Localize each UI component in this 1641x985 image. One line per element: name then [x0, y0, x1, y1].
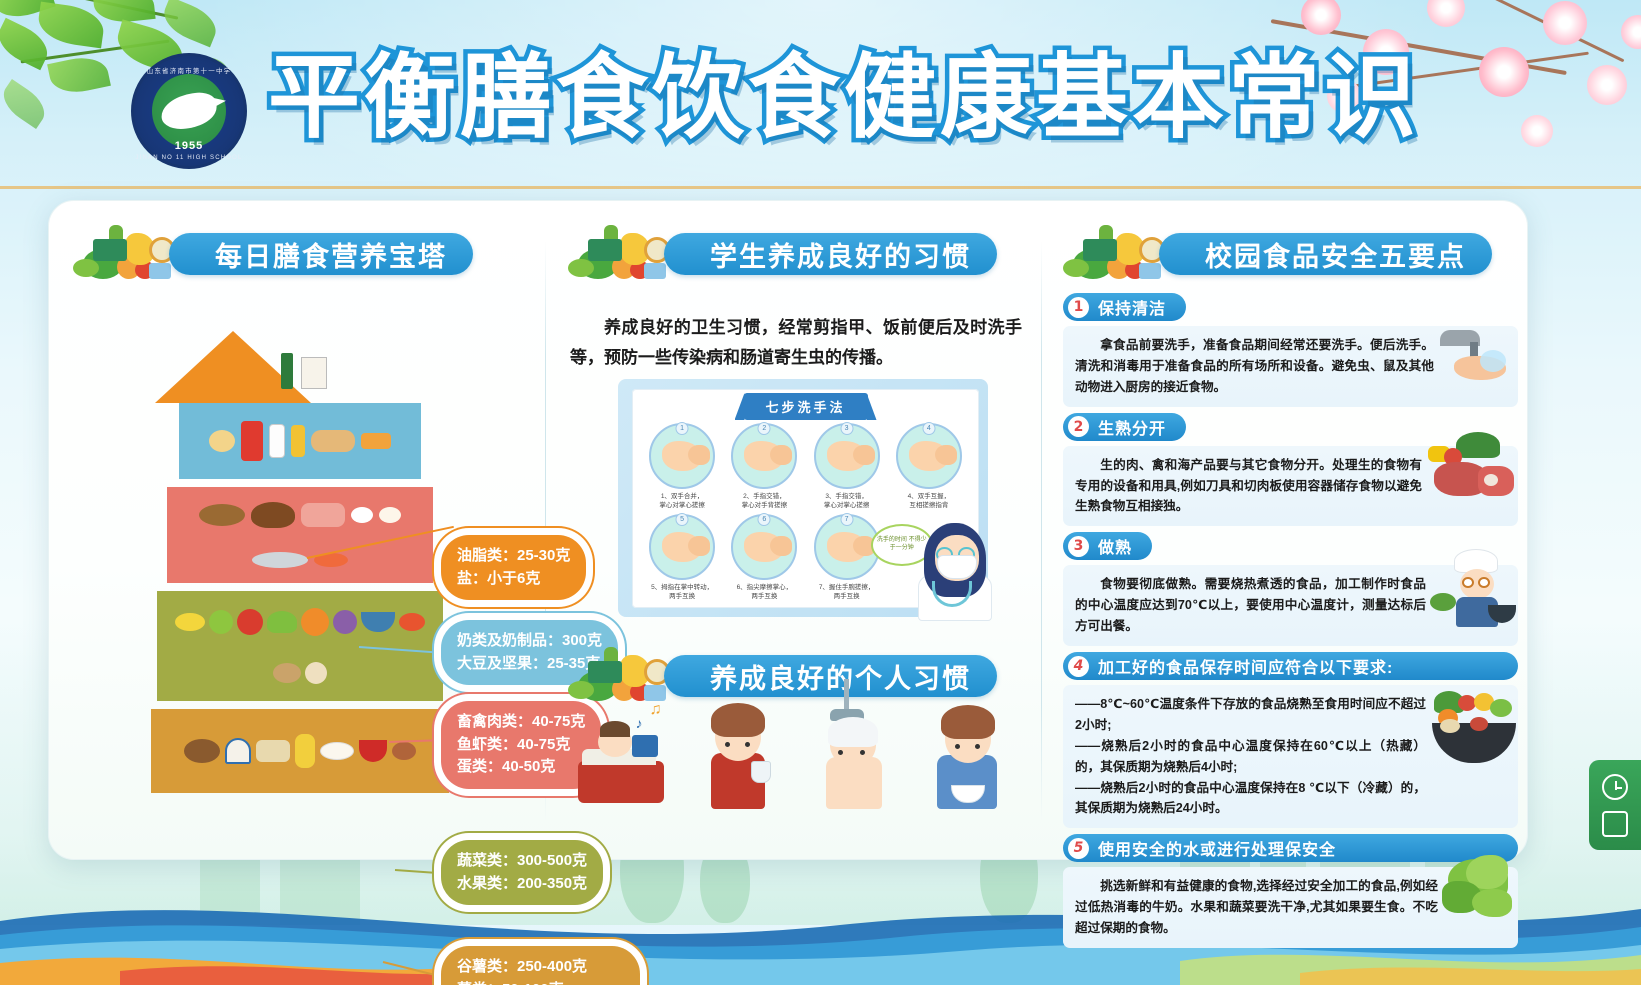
point-body-line: ——烧熟后2小时的食品中心温度保持在60℃以上（热藏）的，其保质期为烧熟后4小时…	[1075, 736, 1426, 778]
hands-icon	[909, 441, 949, 471]
wash-step: 3 3、手指交错， 掌心对掌心搓擦	[807, 423, 887, 512]
wash-step-illustration: 3	[814, 423, 880, 489]
handwashing-title: 七步洗手法	[743, 393, 867, 420]
food-safety-point: 5 使用安全的水或进行处理保安全 挑选新鲜和有益健康的食物,选择经过安全加工的食…	[1063, 834, 1518, 948]
section-title-pill: 学生养成良好的习惯	[664, 233, 997, 275]
wash-step: 5 5、拇指在掌中转动， 两手互换	[642, 514, 722, 603]
vegetable-food-icons	[167, 597, 433, 695]
salad-bowl-icon	[1428, 691, 1520, 765]
wash-step: 7 7、握住手腕搓擦， 两手互换	[807, 514, 887, 603]
pyramid-tier-vegetables-fruits	[157, 591, 443, 701]
wash-step-number: 3	[840, 422, 853, 435]
label-line: 水果类：200-350克	[457, 873, 587, 896]
wash-step-illustration: 7	[814, 514, 880, 580]
side-widget[interactable]	[1589, 760, 1641, 850]
wash-step-caption: 7、握住手腕搓擦， 两手互换	[819, 583, 875, 602]
logo-emblem	[152, 74, 226, 148]
pyramid-tier-meat-egg	[167, 487, 433, 583]
wash-step: 6 6、指尖摩擦掌心， 两手互换	[724, 514, 804, 603]
food-safety-point: 1 保持清洁 拿食品前要洗手，准备食品期间经常还要洗手。便后洗手。清洗和消毒用于…	[1063, 293, 1518, 407]
wash-step-number: 2	[758, 422, 771, 435]
hands-icon	[744, 532, 784, 562]
food-safety-point: 4 加工好的食品保存时间应符合以下要求: ——8℃~60℃温度条件下存放的食品烧…	[1063, 652, 1518, 828]
point-header: 3 做熟	[1063, 532, 1152, 560]
wash-step-number: 5	[676, 513, 689, 526]
point-title: 保持清洁	[1098, 295, 1166, 319]
section-title-pill: 校园食品安全五要点	[1159, 233, 1492, 275]
section-header-student-habits: 学生养成良好的习惯	[554, 227, 1034, 281]
point-header: 5 使用安全的水或进行处理保安全	[1063, 834, 1518, 862]
doctor-icon	[902, 497, 998, 621]
fruit-basket-icon	[560, 219, 680, 285]
wash-step-number: 7	[840, 513, 853, 526]
fruit-basket-icon	[1055, 219, 1175, 285]
point-body-text: 食物要彻底做熟。需要烧热煮透的食品，加工制作时食品的中心温度应达到70℃以上，要…	[1075, 577, 1426, 633]
point-number: 2	[1068, 416, 1089, 437]
section-title: 学生养成良好的习惯	[710, 235, 971, 274]
wash-step-illustration: 2	[731, 423, 797, 489]
point-title: 使用安全的水或进行处理保安全	[1098, 836, 1336, 860]
wash-step-caption: 2、手指交错， 掌心对手背搓擦	[742, 492, 788, 511]
habit-illustrations-row: ♪ ♫	[564, 669, 1024, 809]
dove-icon	[159, 90, 219, 131]
section-header-food-safety: 校园食品安全五要点	[1049, 227, 1527, 281]
hygiene-paragraph: 养成良好的卫生习惯，经常剪指甲、饭前便后及时洗手等，预防一些传染病和肠道寄生虫的…	[570, 313, 1022, 373]
point-number: 5	[1068, 838, 1089, 859]
point-body: 挑选新鲜和有益健康的食物,选择经过安全加工的食品,例如经过低热消毒的牛奶。水果和…	[1063, 867, 1518, 948]
hands-icon	[827, 532, 867, 562]
wash-step: 1 1、双手合并， 掌心对掌心搓擦	[642, 423, 722, 512]
wash-step-illustration: 5	[649, 514, 715, 580]
meat-food-icons	[177, 493, 423, 577]
food-safety-points-list: 1 保持清洁 拿食品前要洗手，准备食品期间经常还要洗手。便后洗手。清洗和消毒用于…	[1063, 293, 1518, 954]
wash-step: 2 2、手指交错， 掌心对手背搓擦	[724, 423, 804, 512]
logo-year: 1955	[134, 140, 244, 152]
pyramid-tier-dairy-nuts	[179, 403, 421, 479]
point-number: 3	[1068, 536, 1089, 557]
school-logo: 山东省济南市第十一中学 1955 JINAN NO 11 HIGH SCHOOL	[131, 53, 247, 169]
point-body: 食物要彻底做熟。需要烧热煮透的食品，加工制作时食品的中心温度应达到70℃以上，要…	[1063, 565, 1518, 646]
wash-step-illustration: 1	[649, 423, 715, 489]
point-body: ——8℃~60℃温度条件下存放的食品烧熟至食用时间应不超过2小时; ——烧熟后2…	[1063, 685, 1518, 828]
handwashing-poster: 七步洗手法 1 1、双手合并， 掌心对掌心搓擦 2	[618, 379, 988, 617]
point-body-text: 挑选新鲜和有益健康的食物,选择经过安全加工的食品,例如经过低热消毒的牛奶。水果和…	[1075, 879, 1438, 935]
lettuce-icon	[1440, 855, 1518, 927]
food-safety-point: 3 做熟 食物要彻底做熟。需要烧热煮透的食品，加工制作时食品的中心温度应达到70…	[1063, 532, 1518, 646]
handwashing-tap-icon	[1436, 328, 1516, 382]
clock-icon[interactable]	[1602, 774, 1628, 800]
point-title: 加工好的食品保存时间应符合以下要求:	[1098, 654, 1393, 678]
section-header-nutrition-pyramid: 每日膳食营养宝塔	[59, 227, 539, 281]
sleeping-child-illustration: ♪ ♫	[574, 679, 670, 809]
point-body-text: 生的肉、禽和海产品要与其它食物分开。处理生的食物有专用的设备和用具,例如刀具和切…	[1075, 458, 1422, 514]
point-body: 拿食品前要洗手，准备食品期间经常还要洗手。便后洗手。清洗和消毒用于准备食品的所有…	[1063, 326, 1518, 407]
point-header: 2 生熟分开	[1063, 413, 1186, 441]
page-title: 平衡膳食饮食健康基本常识	[268, 52, 1420, 144]
hands-icon	[744, 441, 784, 471]
hands-icon	[662, 441, 702, 471]
point-number: 4	[1068, 656, 1089, 677]
point-title: 生熟分开	[1098, 415, 1166, 439]
point-body-text: 拿食品前要洗手，准备食品期间经常还要洗手。便后洗手。清洗和消毒用于准备食品的所有…	[1075, 338, 1434, 394]
food-safety-point: 2 生熟分开 生的肉、禽和海产品要与其它食物分开。处理生的食物有专用的设备和用具…	[1063, 413, 1518, 527]
pyramid-tier-grains	[151, 709, 449, 793]
raw-meat-icon	[1422, 432, 1518, 508]
hands-icon	[827, 441, 867, 471]
content-panel: 每日膳食营养宝塔	[48, 200, 1528, 860]
point-body-line: ——8℃~60℃温度条件下存放的食品烧熟至食用时间应不超过2小时;	[1075, 694, 1426, 736]
showering-child-illustration	[804, 679, 900, 809]
header-divider-line	[0, 186, 1641, 189]
page-header: 山东省济南市第十一中学 1955 JINAN NO 11 HIGH SCHOOL…	[0, 0, 1641, 190]
point-number: 1	[1068, 297, 1089, 318]
wash-step-caption: 5、拇指在掌中转动， 两手互换	[651, 583, 713, 602]
wash-step-caption: 3、手指交错， 掌心对掌心搓擦	[824, 492, 870, 511]
nutrition-pyramid	[155, 331, 445, 791]
label-line: 薯类：50-100克	[457, 979, 624, 985]
fruit-basket-icon	[65, 219, 185, 285]
point-body-line: ——烧熟后2小时的食品中心温度保持在8 ℃以下（冷藏）的，其保质期为烧熟后24小…	[1075, 778, 1426, 820]
column-divider	[1041, 241, 1042, 821]
salt-box-icon	[301, 357, 327, 389]
oil-bottle-icon	[281, 353, 293, 389]
wash-step-number: 6	[758, 513, 771, 526]
point-body: 生的肉、禽和海产品要与其它食物分开。处理生的食物有专用的设备和用具,例如刀具和切…	[1063, 446, 1518, 527]
wash-step-caption: 6、指尖摩擦掌心， 两手互换	[737, 583, 793, 602]
column-right: 校园食品安全五要点 1 保持清洁 拿食品前要洗手，准备食品期间经常还要洗手。便后…	[1049, 201, 1527, 859]
point-header: 1 保持清洁	[1063, 293, 1186, 321]
section-title: 校园食品安全五要点	[1205, 235, 1466, 274]
section-title: 每日膳食营养宝塔	[215, 235, 447, 274]
dairy-food-icons	[189, 409, 411, 473]
chef-cook-icon	[1428, 549, 1516, 631]
wash-step-illustration: 6	[731, 514, 797, 580]
label-line: 谷薯类：250-400克	[457, 956, 624, 979]
logo-arc-bottom-text: JINAN NO 11 HIGH SCHOOL	[134, 155, 244, 161]
pyramid-label-grains: 谷薯类：250-400克 薯类：50-100克 全谷物和杂豆：50-150克	[441, 946, 640, 985]
wash-step-caption: 1、双手合并， 掌心对掌心搓擦	[659, 492, 705, 511]
column-middle: 学生养成良好的习惯 养成良好的卫生习惯，经常剪指甲、饭前便后及时洗手等，预防一些…	[554, 201, 1034, 859]
point-header: 4 加工好的食品保存时间应符合以下要求:	[1063, 652, 1518, 680]
brushing-teeth-girl-illustration	[689, 679, 785, 809]
grain-food-icons	[161, 715, 439, 787]
eating-girl-illustration	[919, 679, 1015, 809]
section-title-pill: 每日膳食营养宝塔	[169, 233, 473, 275]
doctor-mask	[937, 555, 977, 579]
wash-step-number: 4	[922, 422, 935, 435]
point-title: 做熟	[1098, 534, 1132, 558]
hands-icon	[662, 532, 702, 562]
wash-step-illustration: 4	[896, 423, 962, 489]
panel-icon[interactable]	[1602, 811, 1628, 837]
wash-step-number: 1	[676, 422, 689, 435]
